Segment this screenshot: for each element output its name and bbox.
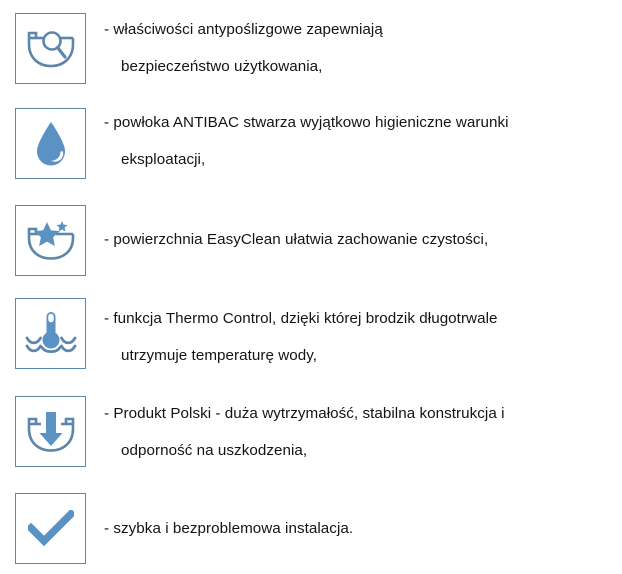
- icon-box-thermo-control: [15, 298, 86, 369]
- icon-box-easy-installation: [15, 493, 86, 564]
- icon-box-durability: [15, 396, 86, 467]
- feature-list: - właściwości antypoślizgowe zapewniają …: [0, 0, 622, 574]
- checkmark-icon: [28, 510, 74, 548]
- feature-text-line: - właściwości antypoślizgowe zapewniają: [104, 22, 622, 37]
- shower-tray-down-arrow-icon: [25, 410, 77, 454]
- feature-text-line: - szybka i bezproblemowa instalacja.: [104, 521, 622, 536]
- feature-text-line: bezpieczeństwo użytkowania,: [104, 59, 622, 74]
- thermometer-waves-icon: [25, 309, 77, 359]
- icon-box-anti-slip: [15, 13, 86, 84]
- feature-text-line: - powierzchnia EasyClean ułatwia zachowa…: [104, 232, 622, 247]
- icon-box-antibac: [15, 108, 86, 179]
- feature-text-line: - Produkt Polski - duża wytrzymałość, st…: [104, 406, 622, 421]
- shower-tray-magnifier-icon: [25, 29, 77, 69]
- feature-text-line: eksploatacji,: [104, 152, 622, 167]
- feature-text: - powierzchnia EasyClean ułatwia zachowa…: [104, 232, 622, 247]
- feature-text-line: - powłoka ANTIBAC stwarza wyjątkowo higi…: [104, 115, 622, 130]
- shower-tray-star-icon: [25, 220, 77, 262]
- feature-text: - Produkt Polski - duża wytrzymałość, st…: [104, 406, 622, 458]
- water-droplet-icon: [32, 120, 70, 168]
- feature-text: - powłoka ANTIBAC stwarza wyjątkowo higi…: [104, 115, 622, 167]
- icon-box-easyclean: [15, 205, 86, 276]
- feature-text: - właściwości antypoślizgowe zapewniają …: [104, 22, 622, 74]
- feature-text-line: - funkcja Thermo Control, dzięki której …: [104, 311, 622, 326]
- feature-text-line: odporność na uszkodzenia,: [104, 443, 622, 458]
- feature-text: - szybka i bezproblemowa instalacja.: [104, 521, 622, 536]
- feature-text-line: utrzymuje temperaturę wody,: [104, 348, 622, 363]
- feature-text: - funkcja Thermo Control, dzięki której …: [104, 311, 622, 363]
